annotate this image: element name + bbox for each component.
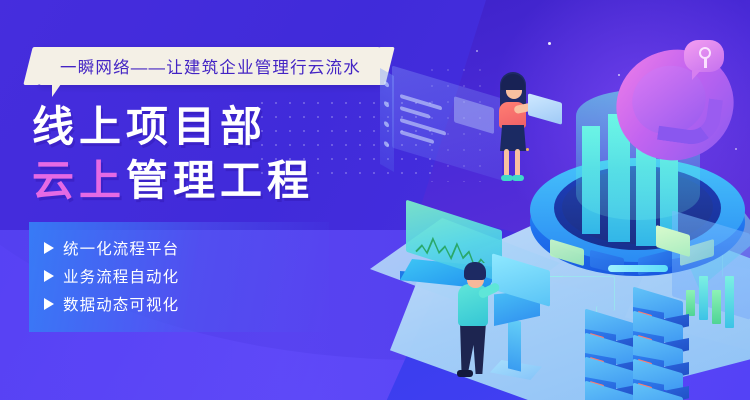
headline-line-2: 云上管理工程 (32, 154, 314, 208)
list-item-label: 统一化流程平台 (63, 237, 179, 259)
man-at-kiosk (454, 262, 500, 380)
list-item: 业务流程自动化 (44, 262, 179, 289)
headline-line-1: 线上项目部 (32, 100, 314, 154)
headline-block: 线上项目部 云上管理工程 (32, 100, 314, 208)
background-window-panel (392, 66, 502, 181)
line-chart-icon (414, 223, 494, 263)
chat-bubble-icon (684, 40, 724, 72)
headline-highlight: 云上 (32, 157, 126, 204)
list-item-label: 业务流程自动化 (63, 265, 179, 287)
headline-rest: 管理工程 (126, 157, 314, 204)
tagline-text: 一瞬网络——让建筑企业管理行云流水 (60, 54, 361, 78)
tagline-ribbon: 一瞬网络——让建筑企业管理行云流水 (38, 47, 381, 85)
hair (464, 262, 486, 280)
legs (504, 149, 522, 179)
list-item-label: 数据动态可视化 (63, 293, 179, 315)
list-item: 数据动态可视化 (44, 290, 179, 317)
panel-thumbnail (454, 96, 494, 134)
triangle-bullet-icon (44, 298, 54, 310)
e-logo (612, 38, 718, 140)
isometric-illustration (380, 0, 750, 400)
ribbon-tail-icon (52, 84, 61, 97)
triangle-bullet-icon (44, 242, 54, 254)
hub-status-bar (608, 265, 668, 272)
key-icon (699, 47, 711, 59)
promo-banner: 一瞬网络——让建筑企业管理行云流水 线上项目部 云上管理工程 统一化流程平台 业… (0, 0, 750, 400)
server-racks (585, 290, 745, 400)
skirt (500, 125, 526, 151)
kiosk-stem (508, 318, 521, 371)
list-item: 统一化流程平台 (44, 234, 179, 261)
triangle-bullet-icon (44, 270, 54, 282)
tablet-device (528, 93, 562, 125)
shoe (457, 370, 473, 377)
feature-list: 统一化流程平台 业务流程自动化 数据动态可视化 (44, 234, 179, 318)
legs (460, 322, 486, 374)
